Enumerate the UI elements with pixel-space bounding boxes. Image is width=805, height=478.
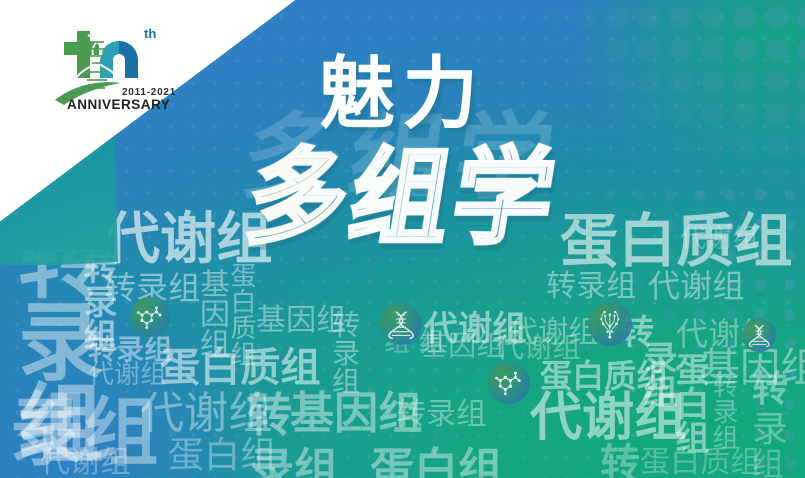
word-cloud-term: 代谢组 <box>530 392 686 444</box>
word-cloud-term: 录 <box>752 412 788 448</box>
word-cloud-term: 录组 <box>250 448 338 478</box>
dna-badge <box>380 303 422 345</box>
word-cloud-term: 转 <box>246 392 292 438</box>
word-cloud-term: 转 <box>600 444 640 478</box>
svg-text:ANNIVERSARY: ANNIVERSARY <box>67 97 170 112</box>
word-cloud-term: 代谢组 <box>88 362 166 388</box>
molecule-badge <box>488 362 530 404</box>
svg-text:th: th <box>144 26 156 41</box>
svg-text:2011-2021: 2011-2021 <box>122 87 176 98</box>
word-cloud-term: 代谢组 <box>680 226 758 252</box>
word-cloud-term: 蛋白质组 <box>640 448 761 478</box>
anniversary-logo: th 2011-2021 ANNIVERSARY <box>46 20 176 112</box>
dna-badge <box>742 318 776 352</box>
word-cloud-term: 代谢组 <box>40 448 130 478</box>
omics-promo-banner: 转录组转录组代谢组转录组基因组蛋白质组基因组转录组蛋白质组代谢组组录组代谢组转基… <box>0 0 805 478</box>
word-cloud-term: 转录组 <box>396 400 486 430</box>
word-cloud-term: 代谢组 <box>648 270 744 302</box>
molecule-badge <box>130 297 170 337</box>
word-cloud-term: 转录组 <box>710 372 736 450</box>
word-cloud-term: 转 <box>752 372 788 408</box>
word-cloud-term: 转录组 <box>546 272 636 302</box>
word-cloud-term: 代谢组 <box>104 212 272 268</box>
word-cloud-term: 蛋白质组 <box>160 348 321 388</box>
word-cloud-term: 转录组 <box>330 310 358 394</box>
protein-badge <box>588 302 632 346</box>
word-cloud-term: 蛋白组 <box>370 448 502 478</box>
